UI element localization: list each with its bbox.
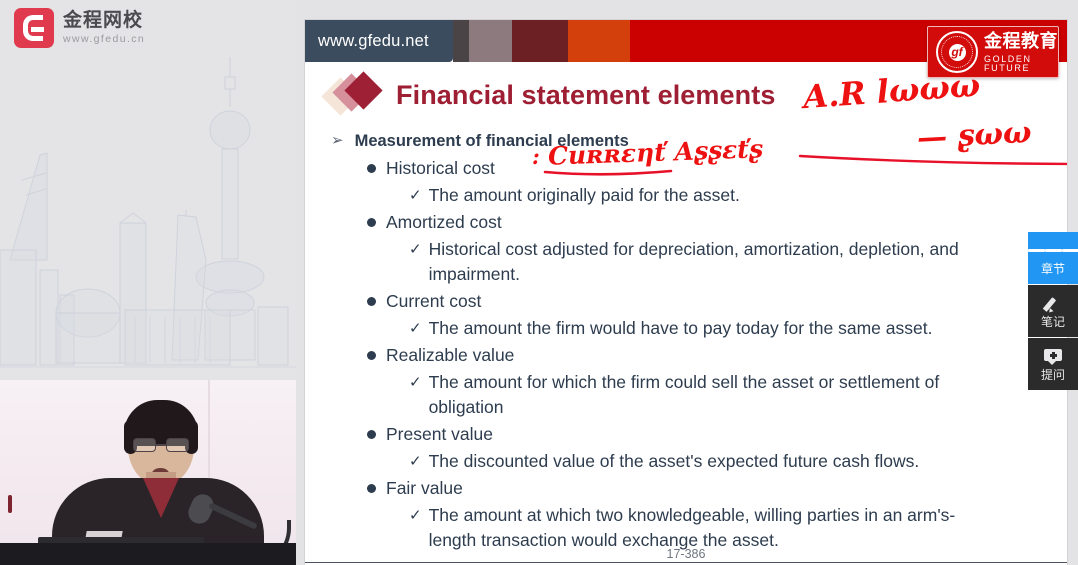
page-title: Financial statement elements (396, 80, 775, 111)
slide-page-number: 17-386 (305, 547, 1067, 561)
list-item-detail: ✓ The discounted value of the asset's ex… (409, 449, 1067, 474)
seal-icon: gf (936, 31, 978, 73)
lectern (0, 543, 296, 565)
side-rail: 章节 笔记 提问 (1028, 232, 1078, 391)
gf-logo-icon (14, 8, 54, 48)
slide-header-url: www.gfedu.net (305, 20, 453, 62)
hamburger-menu-icon (1028, 241, 1078, 260)
rail-label-chapters: 章节 (1041, 263, 1065, 275)
brand-text: 金程网校 www.gfedu.cn (63, 11, 145, 45)
outline-section: ➢ Measurement of financial elements (331, 130, 1067, 152)
logo-name-en: GOLDEN FUTURE (984, 55, 1058, 73)
header-band-orange (568, 20, 630, 62)
bullet-icon (367, 351, 376, 360)
list-item: Present value (367, 422, 1067, 447)
list-item-label: Amortized cost (386, 210, 502, 235)
pencil-icon (1044, 294, 1062, 313)
slide-viewer[interactable]: www.gfedu.net gf 金程教育 GOLDEN FUTURE Fina… (305, 20, 1067, 565)
header-band-mauve (469, 20, 512, 62)
logo-text: 金程教育 GOLDEN FUTURE (984, 32, 1058, 73)
slide-title-row: Financial statement elements (327, 76, 775, 114)
list-item-detail: ✓ The amount for which the firm could se… (409, 370, 1067, 420)
left-panel: 金程网校 www.gfedu.cn (0, 0, 296, 565)
list-item-detail: ✓ The amount at which two knowledgeable,… (409, 503, 1067, 553)
check-icon: ✓ (409, 503, 422, 528)
rail-label-ask: 提问 (1041, 369, 1065, 381)
outline-section-label: Measurement of financial elements (355, 130, 629, 152)
detail-text: Historical cost adjusted for depreciatio… (429, 237, 1001, 287)
bullet-icon (367, 297, 376, 306)
list-item-detail: ✓ Historical cost adjusted for depreciat… (409, 237, 1067, 287)
diamond-bullet-icon (327, 76, 383, 114)
bullet-icon (367, 164, 376, 173)
arrow-icon: ➢ (331, 130, 344, 152)
rail-button-notes[interactable]: 笔记 (1028, 285, 1078, 337)
detail-text: The amount the firm would have to pay to… (429, 316, 933, 341)
check-icon: ✓ (409, 237, 422, 262)
check-icon: ✓ (409, 316, 422, 341)
bullet-icon (367, 218, 376, 227)
list-item-detail: ✓ The amount originally paid for the ass… (409, 183, 1067, 208)
check-icon: ✓ (409, 449, 422, 474)
bullet-icon (367, 484, 376, 493)
gfedu-logo-badge: gf 金程教育 GOLDEN FUTURE (927, 26, 1059, 78)
check-icon: ✓ (409, 370, 422, 395)
chat-plus-icon (1044, 347, 1062, 366)
instructor-video-feed[interactable] (0, 380, 296, 565)
glasses-icon (133, 438, 189, 453)
rail-button-ask[interactable]: 提问 (1028, 338, 1078, 390)
header-band-maroon (512, 20, 568, 62)
detail-text: The amount at which two knowledgeable, w… (429, 503, 1001, 553)
list-item-label: Realizable value (386, 343, 514, 368)
rail-button-chapters[interactable]: 章节 (1028, 232, 1078, 284)
check-icon: ✓ (409, 183, 422, 208)
list-item: Fair value (367, 476, 1067, 501)
slide-body: ➢ Measurement of financial elements Hist… (305, 130, 1067, 555)
list-item: Historical cost (367, 156, 1067, 181)
list-item-label: Current cost (386, 289, 481, 314)
list-item: Realizable value (367, 343, 1067, 368)
list-item: Current cost (367, 289, 1067, 314)
slide-footer-rule (305, 562, 1067, 563)
brand-logo[interactable]: 金程网校 www.gfedu.cn (14, 8, 145, 48)
bullet-icon (367, 430, 376, 439)
brand-url: www.gfedu.cn (63, 34, 145, 45)
course-player-window: 金程网校 www.gfedu.cn (0, 0, 1078, 565)
list-item-label: Fair value (386, 476, 463, 501)
skyline-watermark (0, 55, 296, 385)
rail-label-notes: 笔记 (1041, 316, 1065, 328)
logo-name-cn: 金程教育 (984, 32, 1058, 50)
header-band-gray (453, 20, 469, 62)
brand-name-cn: 金程网校 (63, 11, 145, 30)
list-item: Amortized cost (367, 210, 1067, 235)
list-item-label: Present value (386, 422, 493, 447)
detail-text: The amount for which the firm could sell… (429, 370, 1001, 420)
detail-text: The amount originally paid for the asset… (429, 183, 740, 208)
detail-text: The discounted value of the asset's expe… (429, 449, 920, 474)
marker-pen (8, 495, 12, 513)
list-item-label: Historical cost (386, 156, 495, 181)
seal-monogram: gf (949, 44, 966, 61)
list-item-detail: ✓ The amount the firm would have to pay … (409, 316, 1067, 341)
